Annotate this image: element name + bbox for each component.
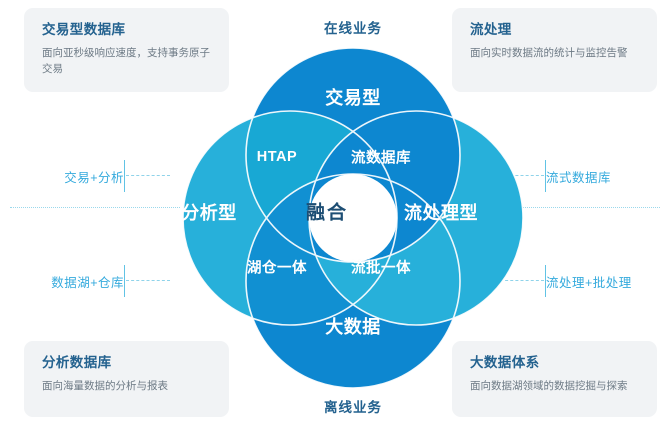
venn-label-stream-batch: 流批一体 [351, 257, 411, 278]
venn-label-lakehouse: 湖仓一体 [247, 257, 307, 278]
venn-label-analytical: 分析型 [181, 199, 237, 225]
caption-datalake-plus-warehouse: 数据湖+仓库 [51, 272, 124, 291]
caption-divider-left-upper [124, 160, 125, 192]
caption-stream-plus-batch: 流处理+批处理 [546, 272, 632, 291]
caption-offline-business: 离线业务 [324, 396, 382, 416]
venn-label-streaming: 流处理型 [404, 199, 478, 225]
card-title: 流处理 [470, 22, 641, 38]
venn-label-transactional: 交易型 [325, 84, 381, 110]
caption-divider-left-lower [124, 265, 125, 297]
diagram-canvas: 交易型数据库 面向亚秒级响应速度，支持事务原子交易 流处理 面向实时数据流的统计… [0, 0, 670, 435]
venn-label-convergence: 融合 [306, 198, 348, 225]
venn-label-stream-db: 流数据库 [351, 147, 411, 168]
dotted-rule-left [10, 207, 180, 208]
caption-online-business: 在线业务 [324, 17, 382, 37]
card-title: 交易型数据库 [42, 22, 213, 38]
caption-streaming-database: 流式数据库 [546, 167, 611, 186]
venn-label-bigdata: 大数据 [325, 313, 381, 339]
venn-label-htap: HTAP [257, 149, 297, 165]
caption-transaction-plus-analytics: 交易+分析 [64, 167, 124, 186]
